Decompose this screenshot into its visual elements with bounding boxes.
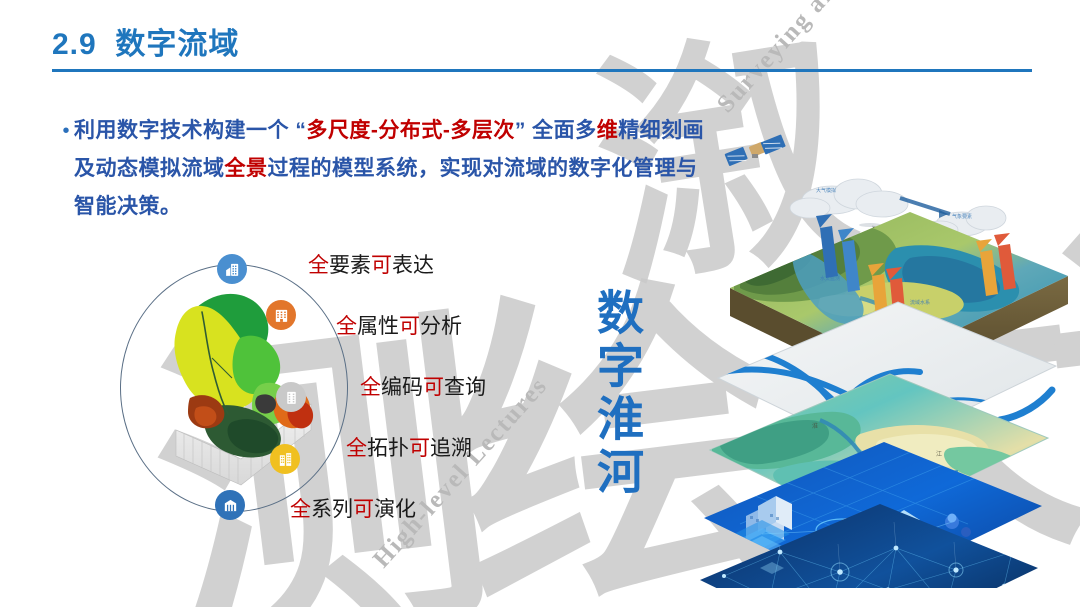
feature-suffix: 分析 (420, 314, 462, 338)
body-segment-5: 全景 (225, 157, 268, 180)
body-segment-2: ” 全面多 (515, 119, 597, 142)
feature-mid: 编码 (381, 375, 423, 399)
feature-mark: 可 (399, 314, 420, 338)
body-segment-0: 利用数字技术构建一个 “ (74, 119, 306, 142)
feature-prefix: 全 (290, 497, 311, 521)
building-icon (224, 261, 241, 278)
svg-text:淮: 淮 (812, 422, 818, 430)
feature-suffix: 追溯 (430, 436, 472, 460)
title-divider (52, 69, 1032, 72)
svg-text:流域水系: 流域水系 (910, 299, 930, 306)
feature-prefix: 全 (336, 314, 357, 338)
building-icon-badge-1[interactable] (217, 254, 247, 284)
svg-text:大气模拟: 大气模拟 (816, 187, 836, 194)
feature-suffix: 查询 (444, 375, 486, 399)
feature-mid: 属性 (357, 314, 399, 338)
feature-mark: 可 (423, 375, 444, 399)
list-item: 全编码可查询 (360, 377, 558, 398)
list-item: 全属性可分析 (336, 316, 558, 337)
satellite-icon (724, 134, 785, 166)
list-item: 全拓扑可追溯 (346, 438, 558, 459)
page-title: 2.9 数字流域 (52, 28, 1080, 63)
bullet-paragraph: • 利用数字技术构建一个 “多尺度-分布式-多层次” 全面多维精细刻画及动态模拟… (58, 112, 718, 226)
bullet-text: 利用数字技术构建一个 “多尺度-分布式-多层次” 全面多维精细刻画及动态模拟流域… (74, 112, 718, 226)
feature-suffix: 演化 (374, 497, 416, 521)
feature-mark: 可 (371, 253, 392, 277)
body-segment-3: 维 (597, 119, 619, 142)
feature-suffix: 表达 (392, 253, 434, 277)
feature-mid: 系列 (311, 497, 353, 521)
body-segment-1: 多尺度-分布式-多层次 (306, 119, 515, 142)
feature-prefix: 全 (346, 436, 367, 460)
feature-mid: 要素 (329, 253, 371, 277)
capability-list: 全要素可表达 全属性可分析 全编码可查询 全拓扑可追溯 全系列可演化 (288, 255, 558, 520)
feature-mark: 可 (409, 436, 430, 460)
feature-prefix: 全 (360, 375, 381, 399)
list-item: 全要素可表达 (308, 255, 558, 276)
feature-prefix: 全 (308, 253, 329, 277)
svg-text:江: 江 (936, 451, 942, 458)
building-icon (273, 307, 290, 324)
feature-mid: 拓扑 (367, 436, 409, 460)
layered-platform-illustration: 大气模拟 气象要素 (700, 128, 1080, 588)
building-icon (222, 497, 239, 514)
list-item: 全系列可演化 (290, 499, 558, 520)
vertical-heading-digital-huaihe: 数字淮河 (592, 288, 639, 500)
bullet-marker: • (58, 112, 74, 226)
svg-text:气象要素: 气象要素 (952, 213, 972, 220)
building-icon-badge-5[interactable] (215, 490, 245, 520)
feature-mark: 可 (353, 497, 374, 521)
slide-header: 2.9 数字流域 (0, 28, 1080, 72)
